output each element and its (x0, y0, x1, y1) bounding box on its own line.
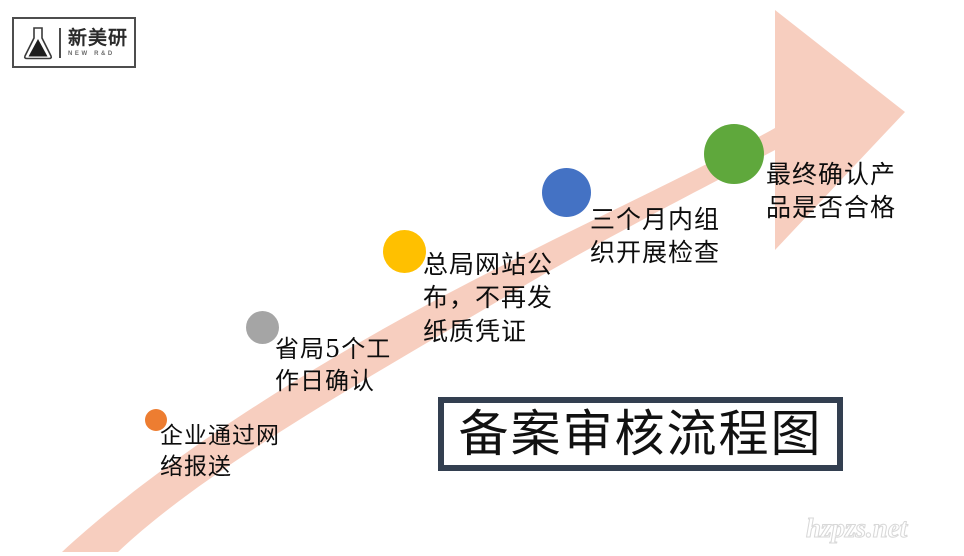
logo-divider (59, 28, 61, 58)
page-title: 备案审核流程图 (459, 409, 823, 459)
step-dot-3 (383, 230, 426, 273)
flask-icon (21, 25, 55, 61)
step-label-3: 总局网站公 布，不再发 纸质凭证 (423, 248, 553, 348)
diagram-title-box: 备案审核流程图 (438, 397, 843, 471)
step-label-5: 最终确认产 品是否合格 (766, 158, 896, 225)
step-label-4: 三个月内组 织开展检查 (590, 203, 720, 270)
step-dot-5 (704, 124, 764, 184)
logo-text: 新美研 NEW R&D (68, 29, 128, 57)
logo-english-name: NEW R&D (68, 51, 128, 57)
step-label-1: 企业通过网 络报送 (160, 421, 280, 482)
step-dot-4 (542, 168, 591, 217)
watermark: hzpzs.net (806, 513, 907, 544)
brand-logo: 新美研 NEW R&D (12, 17, 136, 68)
logo-chinese-name: 新美研 (68, 29, 128, 48)
process-diagram-canvas: 新美研 NEW R&D 企业通过网 络报送 省局5个工 作日确认 总局网站公 布… (0, 0, 964, 556)
step-label-2: 省局5个工 作日确认 (275, 334, 391, 398)
